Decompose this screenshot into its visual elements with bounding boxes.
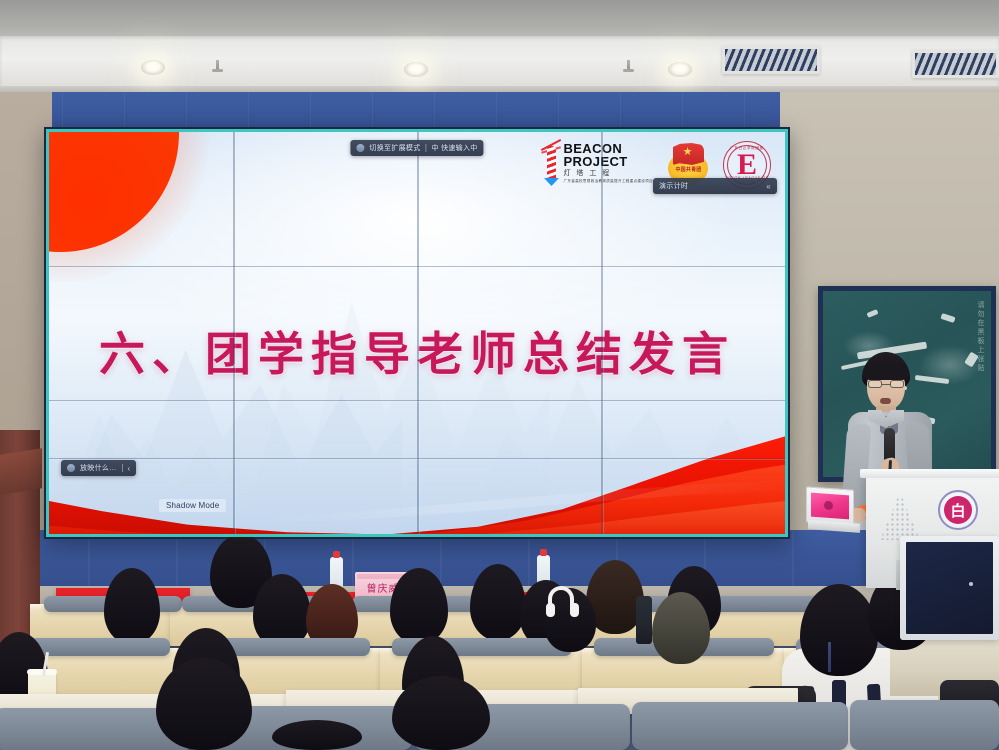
hvac-air-vent-icon	[722, 46, 820, 74]
presenter-mouth	[880, 398, 891, 404]
university-emblem-icon: 白	[938, 490, 978, 530]
beacon-line2: PROJECT	[563, 155, 653, 168]
ime-left-label: 切换至扩展模式	[369, 143, 420, 153]
beacon-chinese: 灯 塔 工 程	[563, 170, 653, 177]
glasses-icon	[868, 380, 904, 388]
timer-label: 演示计时	[659, 181, 688, 191]
earbud-icon	[570, 603, 579, 617]
slide-title: 六、团学指导老师总结发言	[49, 318, 785, 384]
audience-head	[272, 720, 362, 750]
ceiling-downlight-icon	[668, 62, 692, 77]
playback-label: 放映什么…	[80, 463, 117, 473]
left-wooden-lectern	[0, 448, 42, 496]
lanyard	[828, 642, 831, 672]
slide-screen: BEACON PROJECT 灯 塔 工 程 广东省高校思想政治教育质量提升工程…	[49, 132, 785, 534]
earbud-icon	[546, 603, 555, 617]
ceiling-downlight-icon	[141, 60, 165, 75]
laptop-screen	[811, 493, 849, 520]
ceiling-downlight-icon	[404, 62, 428, 77]
beacon-line1: BEACON	[563, 142, 653, 155]
shadow-mode-badge: Shadow Mode	[159, 499, 226, 512]
blackboard-side-text: 请勿在黑板上张贴	[975, 301, 985, 373]
beacon-project-logo: BEACON PROJECT 灯 塔 工 程 广东省高校思想政治教育质量提升工程…	[543, 142, 653, 188]
lectern-top-surface	[860, 469, 999, 478]
seat-back	[632, 702, 848, 750]
ime-icon	[356, 144, 364, 152]
presentation-timer-bar[interactable]: 演示计时 «	[653, 178, 777, 194]
hvac-air-vent-icon	[912, 50, 999, 78]
ime-right-label: 中 快速输入中	[432, 143, 478, 153]
youth-league-ring-text: 中国共青团	[673, 166, 704, 173]
lighthouse-icon	[543, 142, 559, 188]
emblem-glyph: 白	[944, 496, 972, 524]
ime-status-bar[interactable]: 切换至扩展模式 中 快速输入中	[350, 140, 483, 156]
led-video-wall[interactable]: BEACON PROJECT 灯 塔 工 程 广东省高校思想政治教育质量提升工程…	[44, 127, 790, 539]
chevron-left-icon[interactable]: ‹	[128, 464, 131, 473]
playback-control-bar[interactable]: 放映什么… ‹	[61, 460, 136, 476]
beacon-footnote: 广东省高校思想政治教育质量提升工程重点建设项目	[563, 180, 653, 184]
lecture-hall-photo: BEACON PROJECT 灯 塔 工 程 广东省高校思想政治教育质量提升工程…	[0, 0, 999, 750]
play-icon[interactable]	[67, 464, 75, 472]
confidence-monitor[interactable]	[900, 536, 999, 640]
lectern-dot-pattern	[880, 492, 920, 540]
fire-sprinkler-icon	[216, 60, 219, 72]
fire-sprinkler-icon	[627, 60, 630, 72]
collapse-left-chevron-icon[interactable]: «	[766, 182, 771, 191]
monitor-screen	[906, 542, 993, 634]
seat-back	[850, 700, 999, 750]
beacon-logo-text: BEACON PROJECT 灯 塔 工 程 广东省高校思想政治教育质量提升工程…	[563, 142, 653, 183]
presenter-laptop[interactable]	[806, 488, 858, 532]
vacuum-flask	[636, 596, 652, 644]
presenter-fringe	[863, 364, 909, 380]
